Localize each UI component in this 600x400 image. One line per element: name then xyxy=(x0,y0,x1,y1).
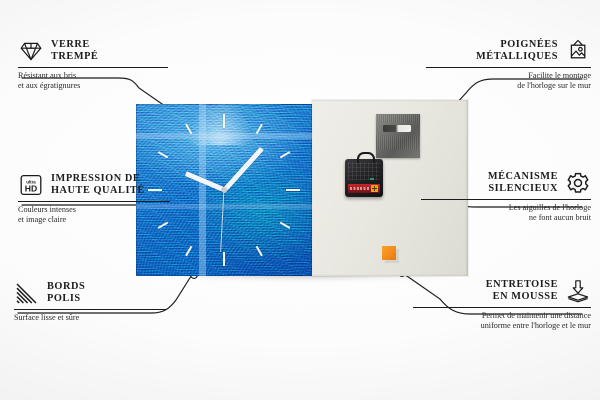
gear-icon xyxy=(565,170,591,196)
divider xyxy=(14,309,166,310)
feature-title: MÉCANISME SILENCIEUX xyxy=(488,171,558,195)
feature-mecanisme-silencieux: MÉCANISME SILENCIEUX Les aiguilles de l'… xyxy=(421,170,591,223)
feature-description: Les aiguilles de l'horloge ne font aucun… xyxy=(421,203,591,223)
feature-poignees-metalliques: POIGNÉES MÉTALLIQUES Facilite le montage… xyxy=(426,38,591,91)
divider xyxy=(413,307,591,308)
feature-description: Résistant aux bris et aux égratignures xyxy=(18,71,168,91)
battery-label xyxy=(350,187,370,190)
feature-title: ENTRETOISE EN MOUSSE xyxy=(486,279,558,303)
feature-impression-haute-qualite: ultra HD IMPRESSION DE HAUTE QUALITÉ Cou… xyxy=(18,172,170,225)
hanger-slot xyxy=(383,125,411,132)
divider xyxy=(426,67,591,68)
diamond-icon xyxy=(18,38,44,64)
feature-description: Surface lisse et sûre xyxy=(14,313,166,323)
clock-tick xyxy=(224,189,300,191)
ultra-hd-icon: ultra HD xyxy=(18,172,44,198)
feature-description: Couleurs intenses et image claire xyxy=(18,205,170,225)
infographic-canvas: VERRE TREMPÉ Résistant aux bris et aux é… xyxy=(0,0,600,400)
feature-title: BORDS POLIS xyxy=(47,281,85,305)
feature-description: Permet de maintenir une distance uniform… xyxy=(413,311,591,331)
hands-center-cap xyxy=(222,188,227,193)
foam-spacer-icon xyxy=(565,278,591,304)
mechanism-texture xyxy=(348,162,380,180)
divider xyxy=(421,199,591,200)
foam-spacer xyxy=(382,246,396,260)
product-image xyxy=(136,104,468,276)
svg-text:HD: HD xyxy=(25,184,37,194)
polished-edges-icon xyxy=(14,280,40,306)
feature-title: POIGNÉES MÉTALLIQUES xyxy=(476,39,558,63)
mechanism-contact xyxy=(370,178,374,180)
feature-title: IMPRESSION DE HAUTE QUALITÉ xyxy=(51,173,145,197)
feature-title: VERRE TREMPÉ xyxy=(51,39,98,63)
feature-entretoise-en-mousse: ENTRETOISE EN MOUSSE Permet de maintenir… xyxy=(413,278,591,331)
clock-tick xyxy=(223,114,225,190)
metal-hanger-plate xyxy=(376,114,420,158)
feature-bords-polis: BORDS POLIS Surface lisse et sûre xyxy=(14,280,166,323)
divider xyxy=(18,67,168,68)
feature-verre-trempe: VERRE TREMPÉ Résistant aux bris et aux é… xyxy=(18,38,168,91)
battery-plus-terminal xyxy=(371,185,378,192)
battery xyxy=(348,184,380,193)
feature-description: Facilite le montage de l'horloge sur le … xyxy=(426,71,591,91)
quartz-mechanism xyxy=(345,159,383,197)
picture-hanger-icon xyxy=(565,38,591,64)
divider xyxy=(18,201,170,202)
